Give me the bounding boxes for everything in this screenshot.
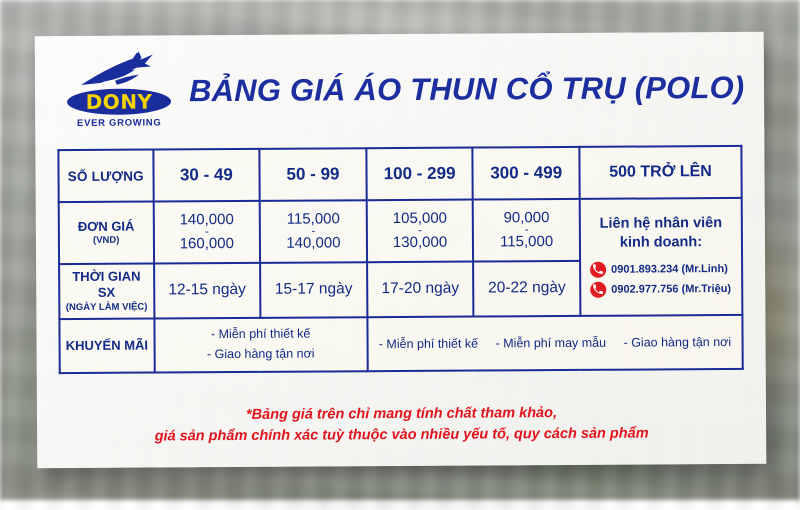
header-cell-tier-4: 300 - 499 <box>473 147 580 200</box>
header-cell-tier-2: 50 - 99 <box>260 148 367 201</box>
row-label-sub: (VND) <box>63 234 150 247</box>
promo-cell-left: - Miễn phí thiết kế - Giao hàng tận nơi <box>154 317 368 372</box>
header-cell-tier-5: 500 TRỞ LÊN <box>579 146 741 199</box>
contact-heading-line1: Liên hệ nhân viên <box>584 214 738 234</box>
price-to: 140,000 <box>264 235 363 252</box>
contact-item-1[interactable]: 0901.893.234 (Mr.Linh) <box>584 259 738 280</box>
promo-right-item-3: - Giao hàng tận nơi <box>617 335 739 350</box>
price-to: 160,000 <box>157 235 256 252</box>
promo-right-item-1: - Miễn phí thiết kế <box>372 336 485 351</box>
page-title: BẢNG GIÁ ÁO THUN CỔ TRỤ (POLO) <box>189 70 745 109</box>
price-cell-tier-3: 105,000 - 130,000 <box>366 200 473 263</box>
logo-wordmark: DONY <box>86 92 153 112</box>
header-cell-tier-3: 100 - 299 <box>366 148 473 201</box>
contact-cell: Liên hệ nhân viên kinh doanh: 0901.893.2… <box>580 198 743 316</box>
price-table-card: DONY EVER GROWING BẢNG GIÁ ÁO THUN CỔ TR… <box>35 32 767 468</box>
promo-left-item-1: - Miễn phí thiết kế <box>158 325 363 346</box>
row-label-main: ĐƠN GIÁ <box>63 218 150 235</box>
contact-list: 0901.893.234 (Mr.Linh) 0902.977.756 (Mr.… <box>584 257 738 300</box>
contact-heading-line2: kinh doanh: <box>584 233 738 253</box>
header-cell-tier-1: 30 - 49 <box>153 149 260 202</box>
table-row-promotion: KHUYẾN MÃI - Miễn phí thiết kế - Giao hà… <box>59 315 742 373</box>
promo-right-item-2: - Miễn phí may mẫu <box>489 336 614 351</box>
dony-logo: DONY EVER GROWING <box>63 50 175 133</box>
table-row-unit-price: ĐƠN GIÁ (VND) 140,000 - 160,000 115,000 … <box>59 198 742 264</box>
time-cell-tier-3: 17-20 ngày <box>367 262 474 317</box>
phone-icon <box>590 262 606 278</box>
contact-item-2[interactable]: 0902.977.756 (Mr.Triệu) <box>584 279 738 300</box>
time-cell-tier-4: 20-22 ngày <box>473 261 580 316</box>
row-label-promotion: KHUYẾN MÃI <box>59 318 154 373</box>
contact-number-2: 0902.977.756 (Mr.Triệu) <box>611 283 731 296</box>
price-cell-tier-4: 90,000 - 115,000 <box>473 199 580 262</box>
contact-heading: Liên hệ nhân viên kinh doanh: <box>584 214 738 258</box>
price-cell-tier-2: 115,000 - 140,000 <box>260 200 367 263</box>
row-label-production-time: THỜI GIAN SX (NGÀY LÀM VIỆC) <box>59 264 154 319</box>
contact-number-1: 0901.893.234 (Mr.Linh) <box>611 263 728 276</box>
footer-disclaimer: *Bảng giá trên chỉ mang tính chất tham k… <box>37 402 766 448</box>
price-cell-tier-1: 140,000 - 160,000 <box>153 201 260 264</box>
price-table: SỐ LƯỢNG 30 - 49 50 - 99 100 - 299 300 -… <box>57 145 743 374</box>
price-to: 115,000 <box>477 234 576 251</box>
time-cell-tier-1: 12-15 ngày <box>154 263 261 318</box>
dony-bird-icon <box>79 50 161 93</box>
row-label-main: THỜI GIAN SX <box>63 269 150 302</box>
phone-icon <box>590 282 606 298</box>
logo-oval: DONY <box>67 88 171 115</box>
row-label-unit-price: ĐƠN GIÁ (VND) <box>59 202 154 265</box>
time-cell-tier-2: 15-17 ngày <box>260 262 367 317</box>
footer-line-2: giá sản phẩm chính xác tuỳ thuộc vào nhi… <box>37 423 766 448</box>
header-cell-quantity: SỐ LƯỢNG <box>58 150 153 203</box>
logo-tagline: EVER GROWING <box>63 117 175 129</box>
price-to: 130,000 <box>371 234 470 251</box>
row-label-sub: (NGÀY LÀM VIỆC) <box>63 301 150 314</box>
promo-cell-right: - Miễn phí thiết kế - Miễn phí may mẫu -… <box>367 315 743 371</box>
table-row-header: SỐ LƯỢNG 30 - 49 50 - 99 100 - 299 300 -… <box>58 146 741 202</box>
promo-left-item-2: - Giao hàng tận nơi <box>158 344 363 365</box>
card-header: DONY EVER GROWING BẢNG GIÁ ÁO THUN CỔ TR… <box>35 36 765 144</box>
